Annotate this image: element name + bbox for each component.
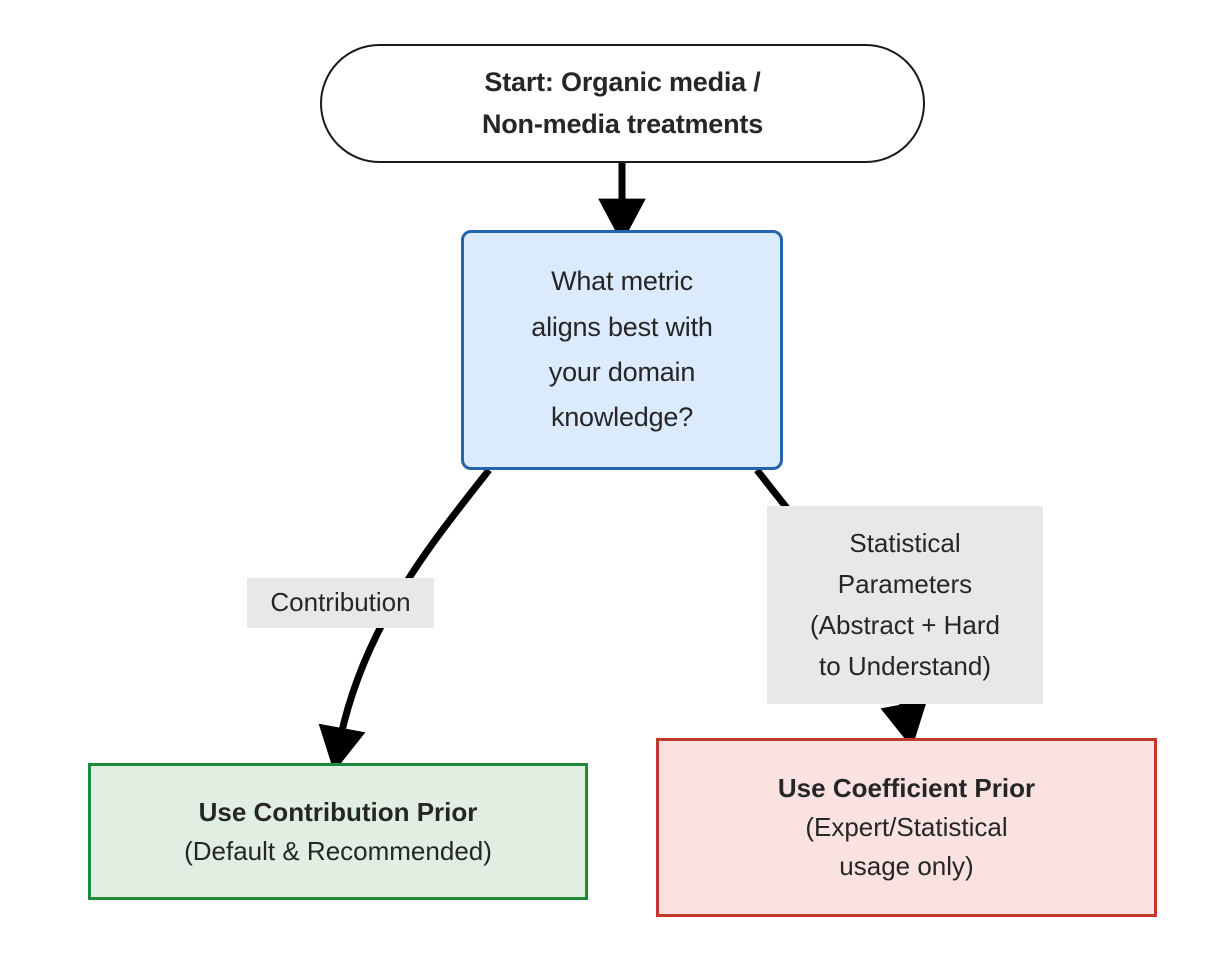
start-node-line-2: Non-media treatments (482, 104, 763, 146)
coefficient-prior-node[interactable]: Use Coefficient Prior (Expert/Statistica… (656, 738, 1157, 917)
coefficient-prior-title: Use Coefficient Prior (778, 769, 1035, 808)
edge-label-statistical: Statistical Parameters (Abstract + Hard … (767, 506, 1043, 704)
contribution-prior-title: Use Contribution Prior (199, 793, 478, 832)
contribution-prior-node[interactable]: Use Contribution Prior (Default & Recomm… (88, 763, 588, 900)
coefficient-prior-subtitle-2: usage only) (839, 847, 973, 886)
contribution-prior-subtitle: (Default & Recommended) (184, 832, 492, 871)
start-node[interactable]: Start: Organic media / Non-media treatme… (320, 44, 925, 163)
decision-node-line-1: What metric (551, 259, 693, 304)
decision-node-line-3: your domain (549, 350, 695, 395)
coefficient-prior-subtitle-1: (Expert/Statistical (805, 808, 1007, 847)
start-node-line-1: Start: Organic media / (484, 62, 760, 104)
decision-node-line-4: knowledge? (551, 395, 693, 440)
decision-node-line-2: aligns best with (531, 305, 712, 350)
edge-label-contribution: Contribution (247, 578, 434, 628)
decision-node[interactable]: What metric aligns best with your domain… (461, 230, 783, 470)
flowchart-canvas: Start: Organic media / Non-media treatme… (0, 0, 1208, 953)
